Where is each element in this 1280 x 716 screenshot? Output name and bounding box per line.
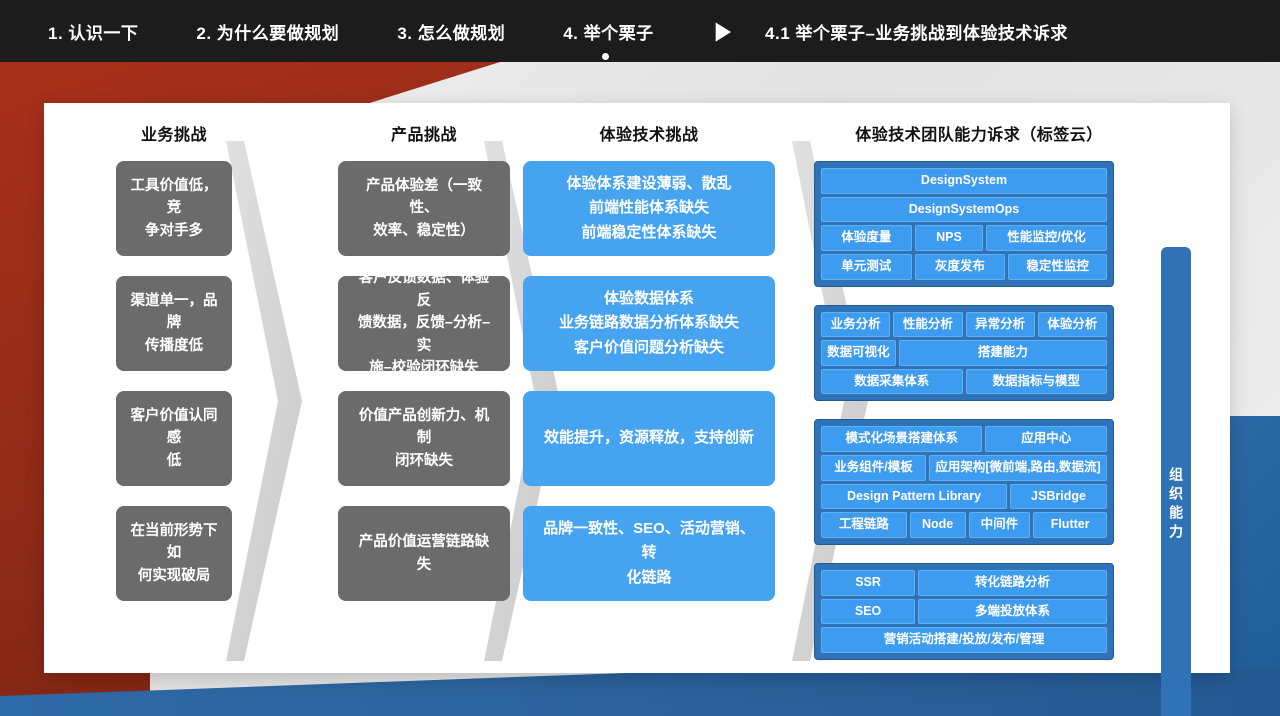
org-capability-bar[interactable]: 组织能力 (1161, 247, 1191, 716)
capability-tag[interactable]: 业务组件/模板 (821, 455, 926, 481)
capability-tag[interactable]: 应用架构[微前端,路由,数据流] (929, 455, 1107, 481)
tag-row: 业务组件/模板应用架构[微前端,路由,数据流] (821, 455, 1107, 481)
slide-content-card: 业务挑战 工具价值低，竞 争对手多 渠道单一，品牌 传播度低 客户价值认同感 低… (44, 103, 1230, 673)
capability-tag[interactable]: 多端投放体系 (918, 599, 1107, 625)
tag-row: 单元测试灰度发布稳定性监控 (821, 254, 1107, 280)
play-arrow-icon: ▶ (716, 19, 731, 44)
challenge-box[interactable]: 工具价值低，竞 争对手多 (116, 161, 232, 256)
tag-row: 体验度量NPS性能监控/优化 (821, 225, 1107, 251)
capability-tag[interactable]: 应用中心 (985, 426, 1107, 452)
tag-row: 模式化场景搭建体系应用中心 (821, 426, 1107, 452)
capability-tag[interactable]: 营销活动搭建/投放/发布/管理 (821, 627, 1107, 653)
capability-tag[interactable]: SEO (821, 599, 915, 625)
engineering-group: 模式化场景搭建体系应用中心业务组件/模板应用架构[微前端,路由,数据流]Desi… (814, 419, 1114, 545)
challenge-box[interactable]: 渠道单一，品牌 传播度低 (116, 276, 232, 371)
nav-item-1-label: 1. 认识一下 (48, 24, 138, 43)
nav-item-4-label: 4. 举个栗子 (563, 24, 653, 43)
challenge-box[interactable]: 客户价值认同感 低 (116, 391, 232, 486)
capability-tag[interactable]: 体验度量 (821, 225, 912, 251)
capability-tag[interactable]: 灰度发布 (915, 254, 1006, 280)
capability-tag[interactable]: 模式化场景搭建体系 (821, 426, 982, 452)
capability-tag[interactable]: 搭建能力 (899, 340, 1107, 366)
nav-item-2[interactable]: 2. 为什么要做规划 (196, 19, 367, 44)
challenge-box[interactable]: 效能提升，资源释放，支持创新 (523, 391, 775, 486)
capability-tag[interactable]: 单元测试 (821, 254, 912, 280)
challenge-box[interactable]: 价值产品创新力、机制 闭环缺失 (338, 391, 510, 486)
capability-tag[interactable]: 稳定性监控 (1008, 254, 1107, 280)
nav-item-1[interactable]: 1. 认识一下 (48, 19, 166, 44)
tag-row: 数据采集体系数据指标与模型 (821, 369, 1107, 395)
tag-row: SSR转化链路分析 (821, 570, 1107, 596)
tag-row: 数据可视化搭建能力 (821, 340, 1107, 366)
top-navigation-bar: 1. 认识一下 2. 为什么要做规划 3. 怎么做规划 4. 举个栗子 ▶ 4.… (0, 0, 1280, 62)
capability-tag[interactable]: 数据指标与模型 (966, 369, 1108, 395)
capability-tag[interactable]: NPS (915, 225, 983, 251)
column-3-title: 体验技术挑战 (494, 103, 804, 145)
nav-item-list: 1. 认识一下 2. 为什么要做规划 3. 怎么做规划 4. 举个栗子 ▶ 4.… (0, 19, 1068, 44)
nav-item-2-label: 2. 为什么要做规划 (196, 24, 339, 43)
capability-tag[interactable]: 数据采集体系 (821, 369, 963, 395)
capability-tag[interactable]: DesignSystem (821, 168, 1107, 194)
challenge-box[interactable]: 产品体验差（一致性、 效率、稳定性） (338, 161, 510, 256)
tag-row: 业务分析性能分析异常分析体验分析 (821, 312, 1107, 338)
column-capability-tag-cloud: 体验技术团队能力诉求（标签云） DesignSystemDesignSystem… (814, 103, 1144, 673)
current-slide-title: 4.1 举个栗子–业务挑战到体验技术诉求 (765, 19, 1068, 44)
column-1-box-list: 工具价值低，竞 争对手多 渠道单一，品牌 传播度低 客户价值认同感 低 在当前形… (84, 161, 264, 601)
capability-tag[interactable]: Design Pattern Library (821, 484, 1007, 510)
capability-tag[interactable]: SSR (821, 570, 915, 596)
tag-row: DesignSystemOps (821, 197, 1107, 223)
column-business-challenges: 业务挑战 工具价值低，竞 争对手多 渠道单一，品牌 传播度低 客户价值认同感 低… (84, 103, 264, 673)
tag-row: SEO多端投放体系 (821, 599, 1107, 625)
capability-tag[interactable]: 体验分析 (1038, 312, 1107, 338)
nav-item-4[interactable]: 4. 举个栗子 (563, 19, 681, 44)
challenge-box[interactable]: 体验体系建设薄弱、散乱 前端性能体系缺失 前端稳定性体系缺失 (523, 161, 775, 256)
capability-tag[interactable]: 业务分析 (821, 312, 890, 338)
nav-item-3[interactable]: 3. 怎么做规划 (397, 19, 533, 44)
tag-row: Design Pattern LibraryJSBridge (821, 484, 1107, 510)
tag-group-list: DesignSystemDesignSystemOps体验度量NPS性能监控/优… (814, 161, 1114, 660)
challenge-box[interactable]: 在当前形势下如 何实现破局 (116, 506, 232, 601)
challenge-box[interactable]: 品牌一致性、SEO、活动营销、转 化链路 (523, 506, 775, 601)
challenge-box[interactable]: 产品价值运营链路缺失 (338, 506, 510, 601)
capability-tag[interactable]: Flutter (1033, 512, 1107, 538)
capability-tag[interactable]: 工程链路 (821, 512, 907, 538)
column-1-title: 业务挑战 (84, 103, 264, 145)
capability-tag[interactable]: 异常分析 (966, 312, 1035, 338)
challenge-box[interactable]: 体验数据体系 业务链路数据分析体系缺失 客户价值问题分析缺失 (523, 276, 775, 371)
design-system-group: DesignSystemDesignSystemOps体验度量NPS性能监控/优… (814, 161, 1114, 287)
nav-item-3-label: 3. 怎么做规划 (397, 24, 505, 43)
tag-row: DesignSystem (821, 168, 1107, 194)
tag-row: 营销活动搭建/投放/发布/管理 (821, 627, 1107, 653)
tag-row: 工程链路Node中间件Flutter (821, 512, 1107, 538)
column-experience-tech-challenges: 体验技术挑战 体验体系建设薄弱、散乱 前端性能体系缺失 前端稳定性体系缺失 体验… (494, 103, 804, 673)
org-capability-label: 组织能力 (1167, 467, 1185, 543)
column-4-title: 体验技术团队能力诉求（标签云） (814, 103, 1144, 145)
active-section-dot-icon (602, 53, 609, 60)
capability-tag[interactable]: DesignSystemOps (821, 197, 1107, 223)
capability-tag[interactable]: 中间件 (969, 512, 1031, 538)
capability-tag[interactable]: 数据可视化 (821, 340, 896, 366)
challenge-box[interactable]: 客户反馈数据、体验反 馈数据，反馈–分析–实 施–校验闭环缺失 (338, 276, 510, 371)
capability-tag[interactable]: 转化链路分析 (918, 570, 1107, 596)
capability-tag[interactable]: JSBridge (1010, 484, 1107, 510)
column-3-box-list: 体验体系建设薄弱、散乱 前端性能体系缺失 前端稳定性体系缺失 体验数据体系 业务… (494, 161, 804, 601)
columns-wrapper: 业务挑战 工具价值低，竞 争对手多 渠道单一，品牌 传播度低 客户价值认同感 低… (44, 103, 1230, 673)
data-analysis-group: 业务分析性能分析异常分析体验分析数据可视化搭建能力数据采集体系数据指标与模型 (814, 305, 1114, 402)
marketing-group: SSR转化链路分析SEO多端投放体系营销活动搭建/投放/发布/管理 (814, 563, 1114, 660)
capability-tag[interactable]: 性能监控/优化 (986, 225, 1107, 251)
capability-tag[interactable]: 性能分析 (893, 312, 962, 338)
capability-tag[interactable]: Node (910, 512, 966, 538)
